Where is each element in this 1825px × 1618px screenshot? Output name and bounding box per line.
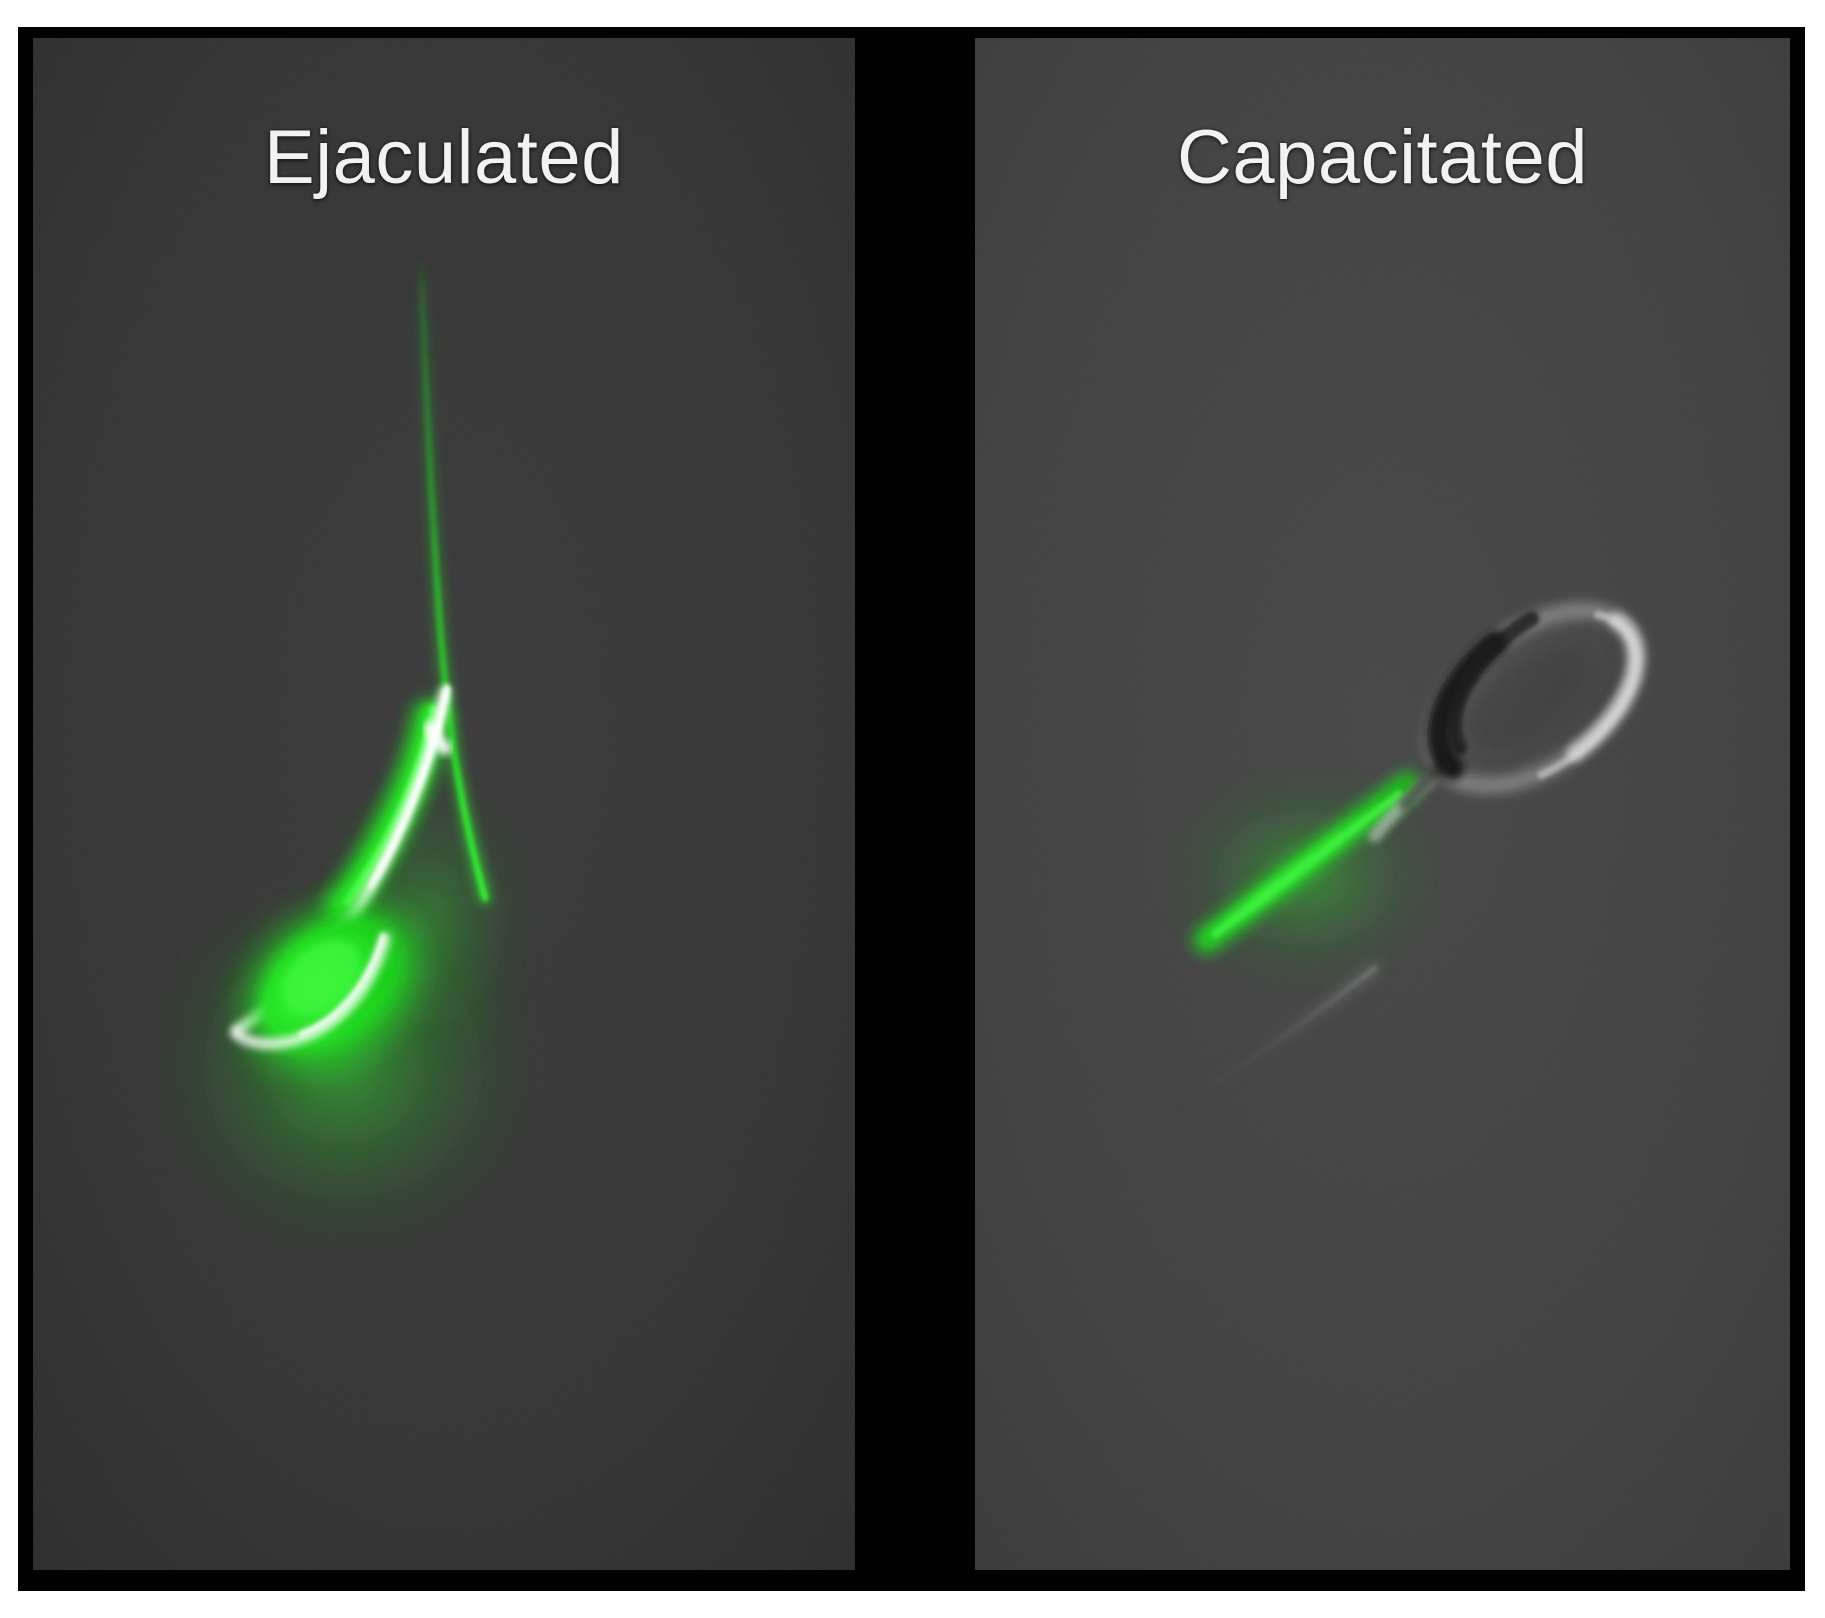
microscopy-figure: Ejaculated: [0, 0, 1825, 1618]
ejaculated-micrograph: [33, 38, 855, 1570]
panel-capacitated[interactable]: Capacitated: [975, 38, 1790, 1570]
capacitated-micrograph: [975, 38, 1790, 1570]
panel-ejaculated[interactable]: Ejaculated: [33, 38, 855, 1570]
